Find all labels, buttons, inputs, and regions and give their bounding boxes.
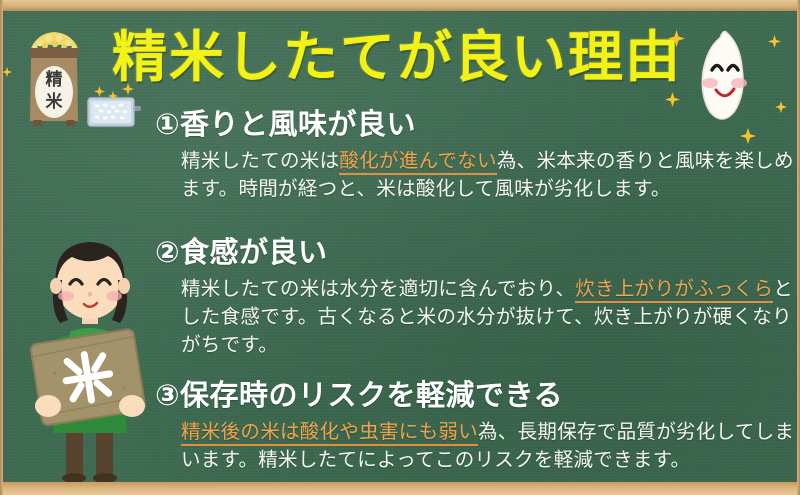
sparkle-star-icon: [740, 128, 756, 148]
highlighted-phrase: 酸化が進んでない: [339, 149, 496, 175]
section-2-heading: ②食感が良い: [155, 236, 795, 269]
section-3-body: 精米後の米は酸化や虫害にも弱い為、長期保存で品質が劣化してしまいます。精米したて…: [181, 418, 800, 473]
highlighted-phrase: 炊き上がりがふっくら: [575, 277, 773, 303]
sparkle-star-icon: [2, 62, 12, 81]
rice-bag-label-line2: 米: [46, 91, 64, 112]
highlighted-phrase: 精米後の米は酸化や虫害にも弱い: [181, 420, 478, 446]
rice-grain-mascot-icon: [690, 28, 760, 128]
section-1-body: 精米したての米は酸化が進んでない為、米本来の香りと風味を楽しめます。時間が経つと…: [181, 147, 800, 202]
rice-bag-label-line1: 精: [46, 69, 63, 90]
section-2-body: 精米したての米は水分を適切に含んでおり、炊き上がりがふっくらとした食感です。古く…: [181, 275, 800, 358]
woman-holding-rice-bag-illustration: [22, 228, 162, 483]
sparkle-star-icon: [775, 98, 787, 117]
page-title: 精米したてが良い理由: [112, 30, 682, 85]
board-frame-bottom: [0, 482, 800, 495]
sparkle-star-icon: [94, 82, 105, 101]
sparkle-star-icon: [668, 30, 685, 51]
sparkle-star-icon: [108, 86, 118, 105]
rice-bag-illustration: 精 米: [18, 22, 90, 132]
section-2: ②食感が良い 精米したての米は水分を適切に含んでおり、炊き上がりがふっくらとした…: [155, 236, 795, 358]
section-3: ③保存時のリスクを軽減できる 精米後の米は酸化や虫害にも弱い為、長期保存で品質が…: [155, 379, 795, 474]
chalkboard: 精 米: [0, 0, 800, 495]
board-frame-left: [0, 0, 3, 495]
body-text-run: 精米したての米は: [181, 149, 339, 172]
board-frame-top: [0, 0, 800, 11]
sparkle-star-icon: [665, 92, 680, 111]
body-text-run: 精米したての米は水分を適切に含んでおり、: [181, 277, 575, 300]
sparkle-star-icon: [768, 33, 781, 52]
sparkle-star-icon: [122, 80, 134, 99]
section-3-heading: ③保存時のリスクを軽減できる: [155, 379, 795, 412]
